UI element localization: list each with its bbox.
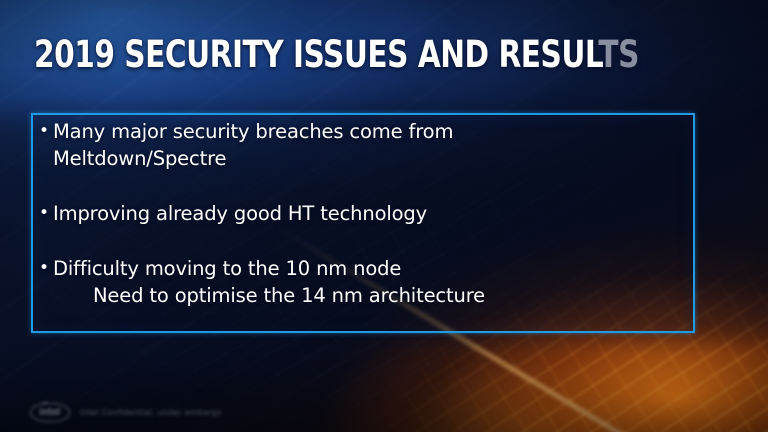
bullet-spacer-1 — [39, 172, 689, 200]
bullet-item-2-line-1: Improving already good HT technology — [53, 200, 689, 227]
bullet-item-3-text: Difficulty moving to the 10 nm node Need… — [53, 255, 689, 309]
intel-logo-text: intel — [40, 407, 61, 418]
footer-confidential-note: Intel Confidential, under embargo — [80, 408, 222, 417]
bullet-item-1-line-2: Meltdown/Spectre — [53, 145, 689, 172]
slide-title: 2019 SECURITY ISSUES AND RESULTS — [34, 34, 639, 76]
presentation-slide: 2019 SECURITY ISSUES AND RESULTS • Many … — [0, 0, 768, 432]
bullet-item-3-subline: Need to optimise the 14 nm architecture — [53, 282, 689, 309]
bullet-item-2-text: Improving already good HT technology — [53, 200, 689, 227]
slide-footer: intel Intel Confidential, under embargo — [30, 403, 222, 422]
bullet-marker-icon: • — [39, 118, 53, 145]
intel-logo-icon: intel — [30, 403, 70, 422]
bullet-marker-icon: • — [39, 200, 53, 227]
bullet-marker-icon: • — [39, 255, 53, 282]
bullet-item-1-line-1: Many major security breaches come from — [53, 118, 689, 145]
slide-title-head: 2019 SECURITY ISSUES AND RESUL — [34, 33, 598, 76]
intel-logo-swoosh — [41, 402, 49, 406]
bullet-item-1-text: Many major security breaches come from M… — [53, 118, 689, 172]
bullet-item-2: • Improving already good HT technology — [39, 200, 689, 227]
bullet-spacer-2 — [39, 227, 689, 255]
bullet-item-3-line-1: Difficulty moving to the 10 nm node — [53, 255, 689, 282]
bullet-item-3: • Difficulty moving to the 10 nm node Ne… — [39, 255, 689, 309]
bullet-item-1: • Many major security breaches come from… — [39, 118, 689, 172]
bullet-list: • Many major security breaches come from… — [39, 118, 689, 309]
slide-title-tail: TS — [598, 33, 639, 76]
